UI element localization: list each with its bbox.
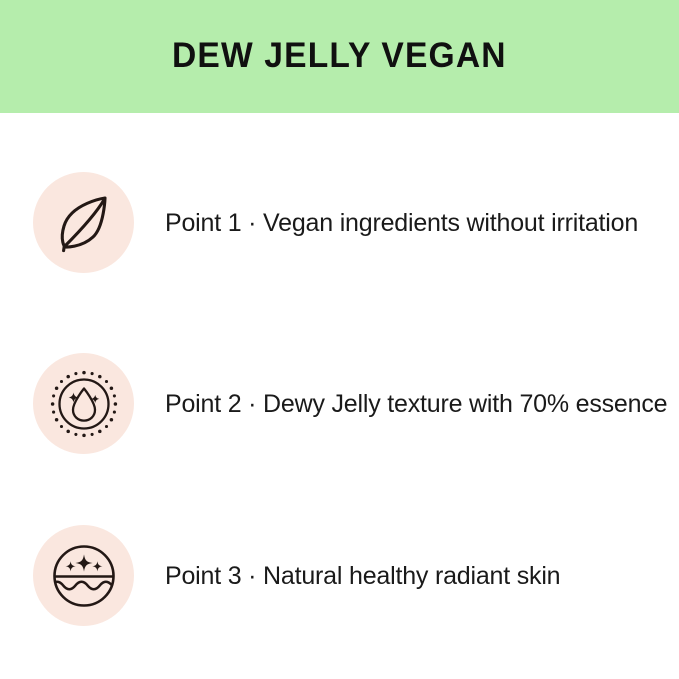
radiant-skin-icon	[33, 525, 134, 626]
point-text: Point 3 · Natural healthy radiant skin	[165, 561, 560, 591]
header-banner: DEW JELLY VEGAN	[0, 0, 679, 113]
point-text: Point 2 · Dewy Jelly texture with 70% es…	[165, 389, 667, 419]
product-feature-panel: DEW JELLY VEGAN Point 1 · Vegan ingredie…	[0, 0, 679, 679]
point-text: Point 1 · Vegan ingredients without irri…	[165, 208, 638, 238]
water-droplet-sparkle-icon	[33, 353, 134, 454]
points-list: Point 1 · Vegan ingredients without irri…	[0, 113, 679, 679]
list-item: Point 2 · Dewy Jelly texture with 70% es…	[0, 353, 679, 454]
list-item: Point 3 · Natural healthy radiant skin	[0, 525, 679, 626]
page-title: DEW JELLY VEGAN	[172, 38, 507, 73]
list-item: Point 1 · Vegan ingredients without irri…	[0, 172, 679, 273]
leaf-icon	[33, 172, 134, 273]
